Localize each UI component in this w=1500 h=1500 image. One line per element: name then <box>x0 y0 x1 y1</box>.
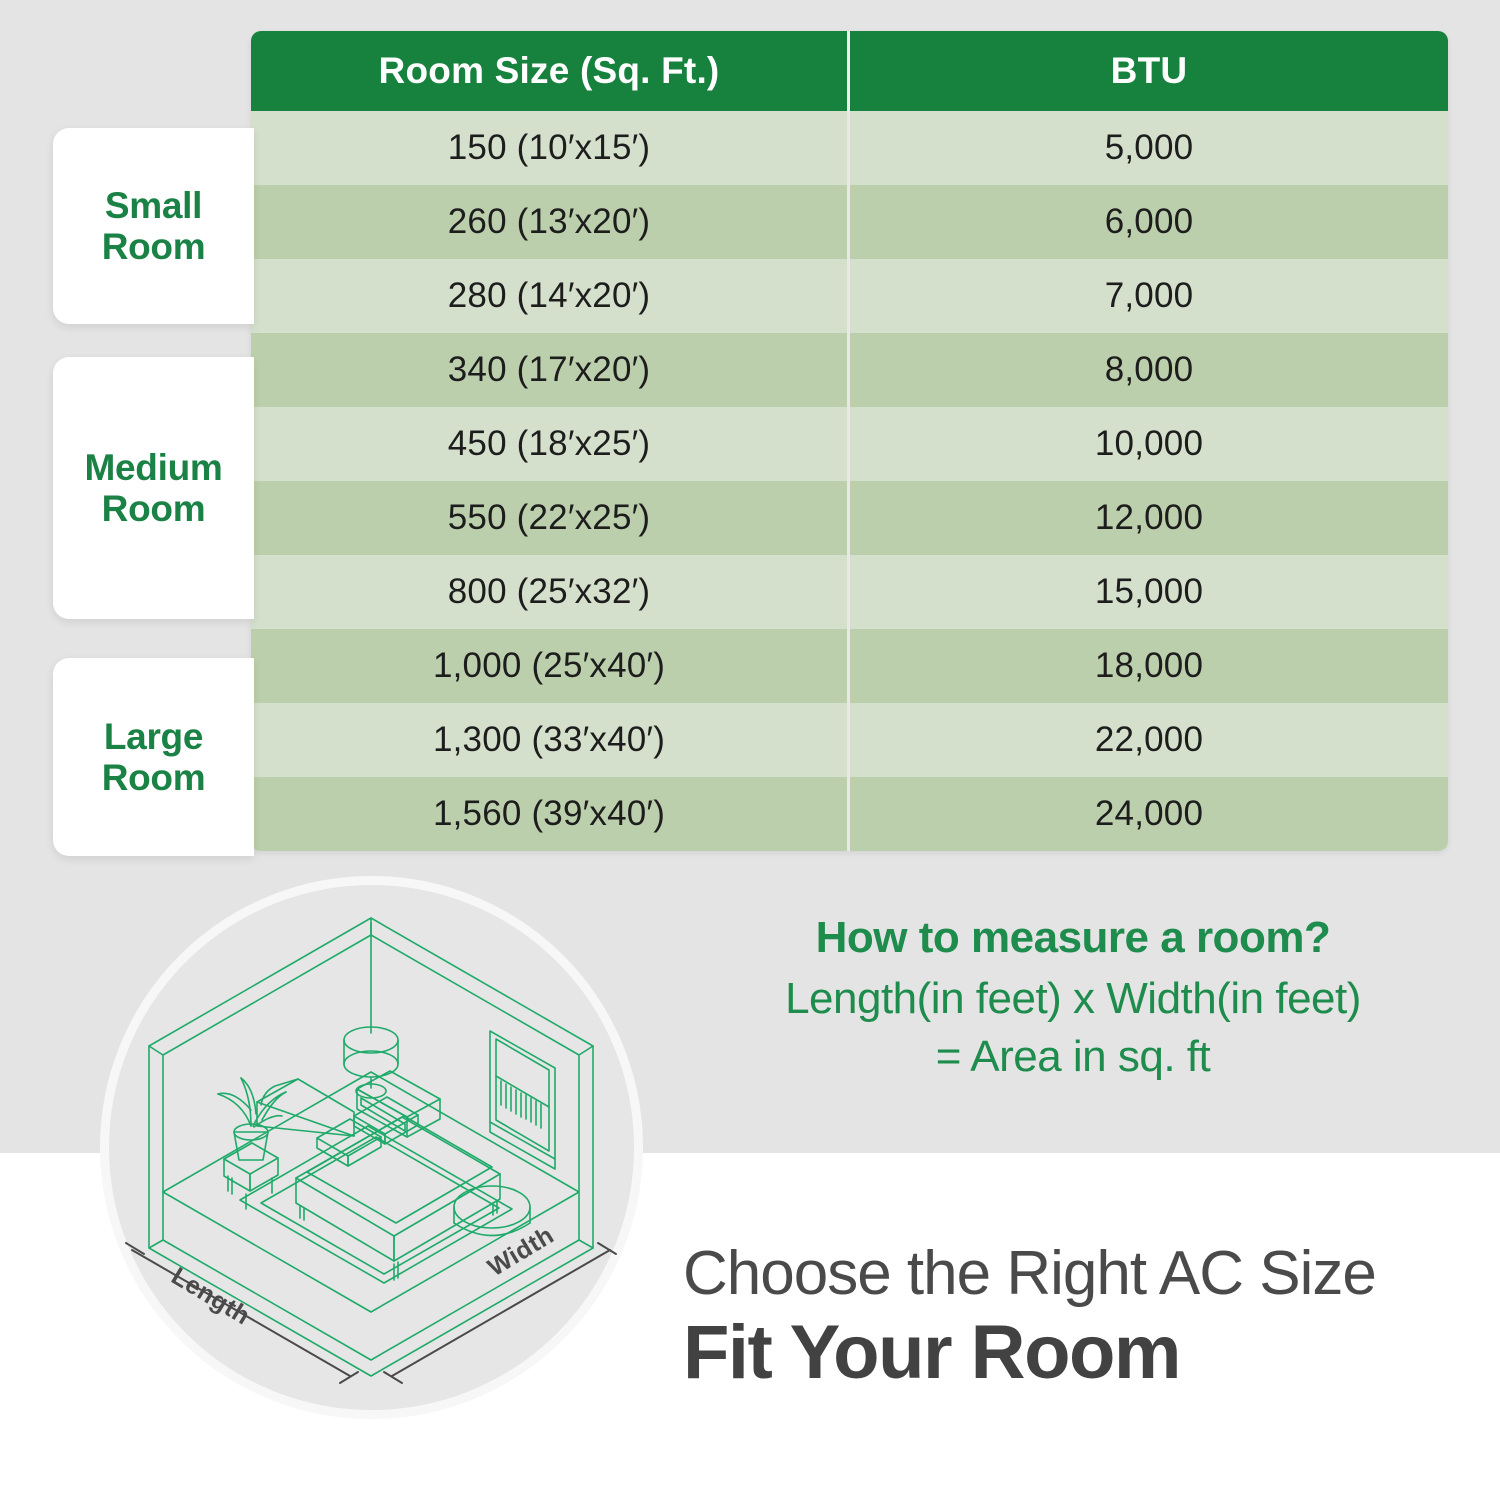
cell-btu: 7,000 <box>847 259 1448 333</box>
how-to-measure-formula: Length(in feet) x Width(in feet) = Area … <box>660 970 1486 1086</box>
cell-room-size: 550 (22′x25′) <box>251 481 847 555</box>
headline-title: Fit Your Room <box>683 1310 1483 1395</box>
how-to-measure-title: How to measure a room? <box>660 912 1486 964</box>
column-header-btu: BTU <box>847 31 1448 111</box>
category-label-line2: Room <box>85 488 223 529</box>
category-label-line1: Small <box>102 185 206 226</box>
cell-btu: 5,000 <box>847 111 1448 185</box>
table-row: 450 (18′x25′) 10,000 <box>251 407 1448 481</box>
table-row: 340 (17′x20′) 8,000 <box>251 333 1448 407</box>
category-card-large-room: Large Room <box>53 658 254 856</box>
headline-subtitle: Choose the Right AC Size <box>683 1241 1483 1306</box>
cell-room-size: 1,560 (39′x40′) <box>251 777 847 851</box>
table-row: 260 (13′x20′) 6,000 <box>251 185 1448 259</box>
column-header-room-size: Room Size (Sq. Ft.) <box>251 31 847 111</box>
table-row: 1,000 (25′x40′) 18,000 <box>251 629 1448 703</box>
cell-room-size: 1,300 (33′x40′) <box>251 703 847 777</box>
cell-room-size: 450 (18′x25′) <box>251 407 847 481</box>
cell-btu: 18,000 <box>847 629 1448 703</box>
isometric-room-illustration <box>100 876 643 1419</box>
category-label-line1: Large <box>102 716 206 757</box>
formula-line-1: Length(in feet) x Width(in feet) <box>660 970 1486 1028</box>
category-label-line2: Room <box>102 757 206 798</box>
how-to-measure-block: How to measure a room? Length(in feet) x… <box>660 912 1486 1086</box>
headline-block: Choose the Right AC Size Fit Your Room <box>683 1241 1483 1395</box>
table-header-row: Room Size (Sq. Ft.) BTU <box>251 31 1448 111</box>
formula-line-2: = Area in sq. ft <box>660 1028 1486 1086</box>
cell-btu: 15,000 <box>847 555 1448 629</box>
cell-btu: 6,000 <box>847 185 1448 259</box>
category-label-line1: Medium <box>85 447 223 488</box>
cell-btu: 8,000 <box>847 333 1448 407</box>
category-label: Medium Room <box>85 447 223 530</box>
cell-room-size: 260 (13′x20′) <box>251 185 847 259</box>
btu-sizing-table: Room Size (Sq. Ft.) BTU 150 (10′x15′) 5,… <box>251 31 1448 851</box>
category-label: Small Room <box>102 185 206 268</box>
category-label-line2: Room <box>102 226 206 267</box>
table-row: 1,300 (33′x40′) 22,000 <box>251 703 1448 777</box>
table-row: 1,560 (39′x40′) 24,000 <box>251 777 1448 851</box>
cell-btu: 24,000 <box>847 777 1448 851</box>
table-row: 150 (10′x15′) 5,000 <box>251 111 1448 185</box>
cell-room-size: 280 (14′x20′) <box>251 259 847 333</box>
table-row: 550 (22′x25′) 12,000 <box>251 481 1448 555</box>
cell-btu: 12,000 <box>847 481 1448 555</box>
cell-btu: 22,000 <box>847 703 1448 777</box>
cell-room-size: 800 (25′x32′) <box>251 555 847 629</box>
category-label: Large Room <box>102 716 206 799</box>
cell-room-size: 150 (10′x15′) <box>251 111 847 185</box>
table-row: 280 (14′x20′) 7,000 <box>251 259 1448 333</box>
category-card-medium-room: Medium Room <box>53 357 254 619</box>
table-row: 800 (25′x32′) 15,000 <box>251 555 1448 629</box>
cell-btu: 10,000 <box>847 407 1448 481</box>
cell-room-size: 340 (17′x20′) <box>251 333 847 407</box>
cell-room-size: 1,000 (25′x40′) <box>251 629 847 703</box>
category-card-small-room: Small Room <box>53 128 254 324</box>
